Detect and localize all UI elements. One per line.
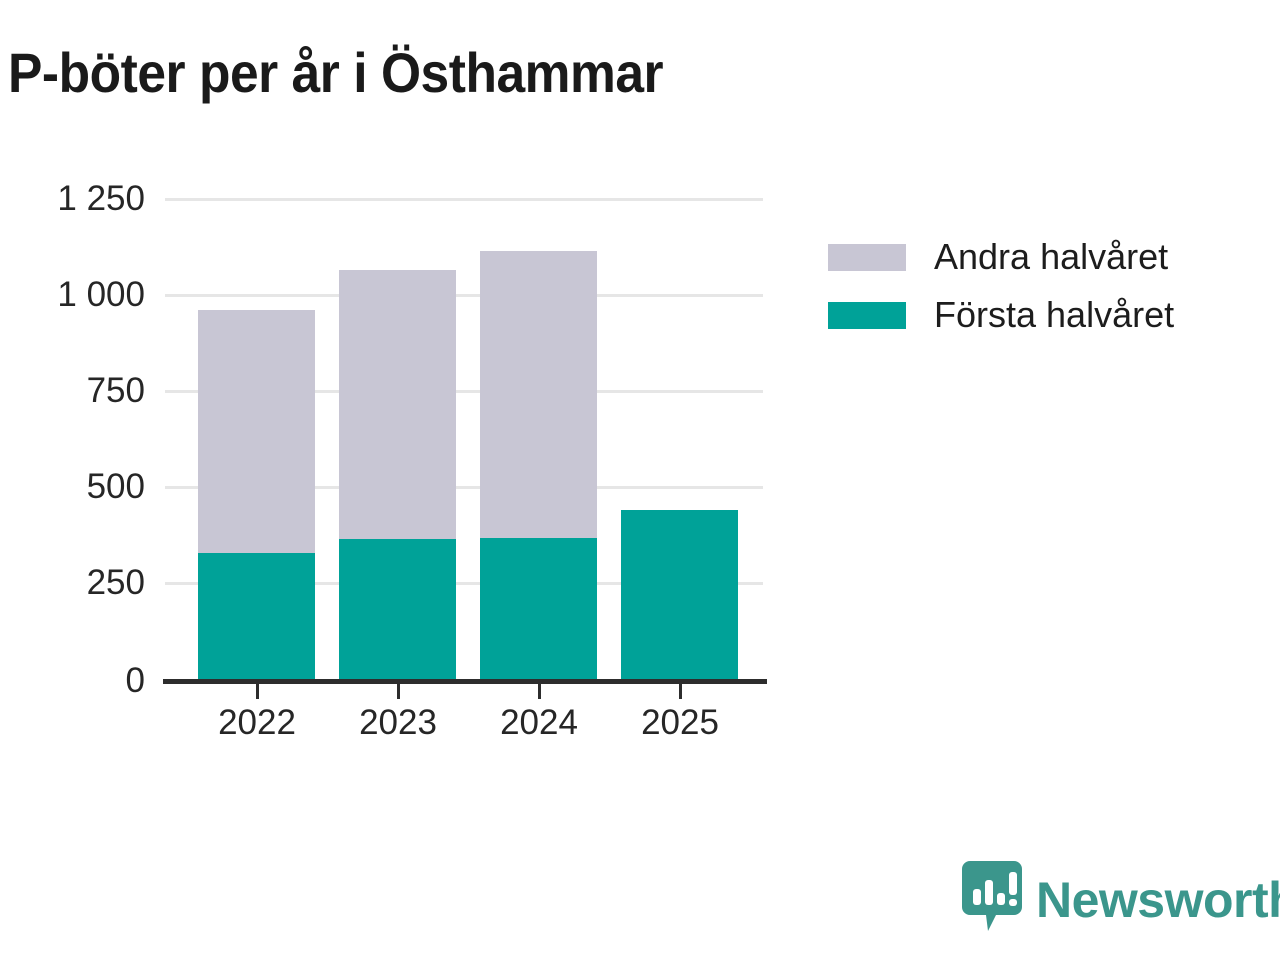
x-tick-2025	[679, 684, 682, 699]
gridline-1000	[165, 294, 763, 297]
x-tick-label-2024: 2024	[459, 702, 619, 744]
newsworthy-logo: Newsworthy	[962, 861, 1280, 938]
legend-label-andra-halvaret: Andra halvåret	[934, 239, 1168, 275]
x-tick-label-2025: 2025	[600, 702, 760, 744]
y-tick-label-0: 0	[0, 663, 145, 698]
x-tick-2024	[538, 684, 541, 699]
plot-area	[165, 198, 765, 681]
bar-segment-2023-andra-halvaret[interactable]	[339, 270, 456, 539]
bar-segment-2024-andra-halvaret[interactable]	[480, 251, 597, 538]
legend-swatch-forsta-halvaret	[828, 302, 906, 329]
y-tick-label-750: 750	[0, 373, 145, 408]
y-tick-label-1000: 1 000	[0, 277, 145, 312]
bar-chart-speech-bubble-icon	[962, 861, 1022, 938]
newsworthy-wordmark: Newsworthy	[1036, 875, 1280, 925]
x-tick-label-2023: 2023	[318, 702, 478, 744]
legend: Andra halvåret Första halvåret	[828, 228, 1174, 344]
legend-swatch-andra-halvaret	[828, 244, 906, 271]
y-tick-label-250: 250	[0, 565, 145, 600]
gridline-1250	[165, 198, 763, 201]
x-tick-2022	[256, 684, 259, 699]
x-axis-line	[163, 679, 767, 684]
bar-group-2022[interactable]	[198, 310, 315, 681]
bar-group-2023[interactable]	[339, 270, 456, 681]
bar-segment-2024-forsta-halvaret[interactable]	[480, 538, 597, 681]
bar-segment-2023-forsta-halvaret[interactable]	[339, 539, 456, 681]
legend-item-forsta-halvaret[interactable]: Första halvåret	[828, 286, 1174, 344]
y-tick-label-500: 500	[0, 469, 145, 504]
bar-segment-2025-forsta-halvaret[interactable]	[621, 510, 738, 681]
legend-label-forsta-halvaret: Första halvåret	[934, 297, 1174, 333]
y-tick-label-1250: 1 250	[0, 181, 145, 216]
bar-group-2025[interactable]	[621, 510, 738, 681]
bar-group-2024[interactable]	[480, 251, 597, 681]
bar-segment-2022-andra-halvaret[interactable]	[198, 310, 315, 553]
legend-item-andra-halvaret[interactable]: Andra halvåret	[828, 228, 1174, 286]
page-title: P-böter per år i Östhammar	[8, 44, 663, 103]
x-tick-label-2022: 2022	[177, 702, 337, 744]
x-tick-2023	[397, 684, 400, 699]
y-axis: 1 250 1 000 750 500 250 0	[0, 198, 145, 681]
bar-segment-2022-forsta-halvaret[interactable]	[198, 553, 315, 681]
